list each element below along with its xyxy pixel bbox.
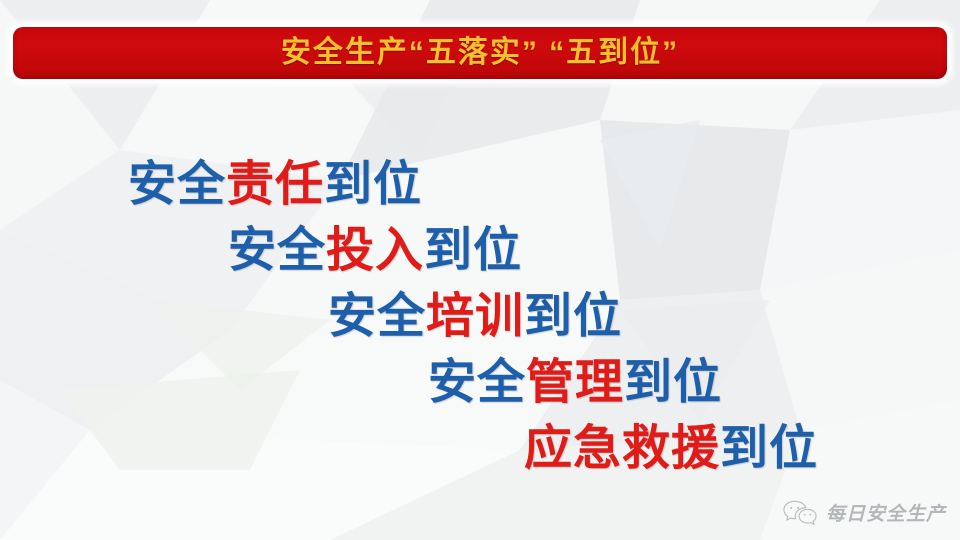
banner-title-text: 安全生产“五落实” “五到位” — [281, 38, 679, 68]
slogan-prefix: 安全 — [128, 158, 226, 211]
slogan-prefix: 安全 — [428, 356, 526, 409]
wechat-icon — [783, 500, 817, 526]
slogan-highlight: 责任 — [226, 158, 324, 211]
slogan-line: 安全管理到位 — [0, 350, 960, 416]
slogan-prefix: 安全 — [228, 224, 326, 277]
slogan-suffix: 到位 — [524, 290, 622, 343]
slogan-suffix: 到位 — [324, 158, 422, 211]
slogan-prefix: 安全 — [328, 290, 426, 343]
slogan-highlight: 管理 — [526, 356, 624, 409]
slogan-highlight: 培训 — [426, 290, 524, 343]
wechat-account-name: 每日安全生产 — [826, 499, 946, 526]
slogan-highlight: 应急救援 — [524, 422, 720, 475]
slogan-suffix: 到位 — [624, 356, 722, 409]
slogan-suffix: 到位 — [720, 422, 818, 475]
slogan-highlight: 投入 — [326, 224, 424, 277]
slogan-line: 安全投入到位 — [0, 218, 960, 284]
slogan-line: 安全责任到位 — [0, 152, 960, 218]
wechat-watermark: 每日安全生产 — [783, 499, 946, 526]
slide-canvas: 安全生产“五落实” “五到位” 安全责任到位 安全投入到位 安全培训到位 安全管… — [0, 0, 960, 540]
title-banner: 安全生产“五落实” “五到位” — [13, 27, 947, 79]
slogan-line: 应急救援到位 — [0, 416, 960, 482]
title-banner-frame: 安全生产“五落实” “五到位” — [10, 24, 950, 82]
slogan-list: 安全责任到位 安全投入到位 安全培训到位 安全管理到位 应急救援到位 — [0, 152, 960, 482]
slogan-line: 安全培训到位 — [0, 284, 960, 350]
slogan-suffix: 到位 — [424, 224, 522, 277]
